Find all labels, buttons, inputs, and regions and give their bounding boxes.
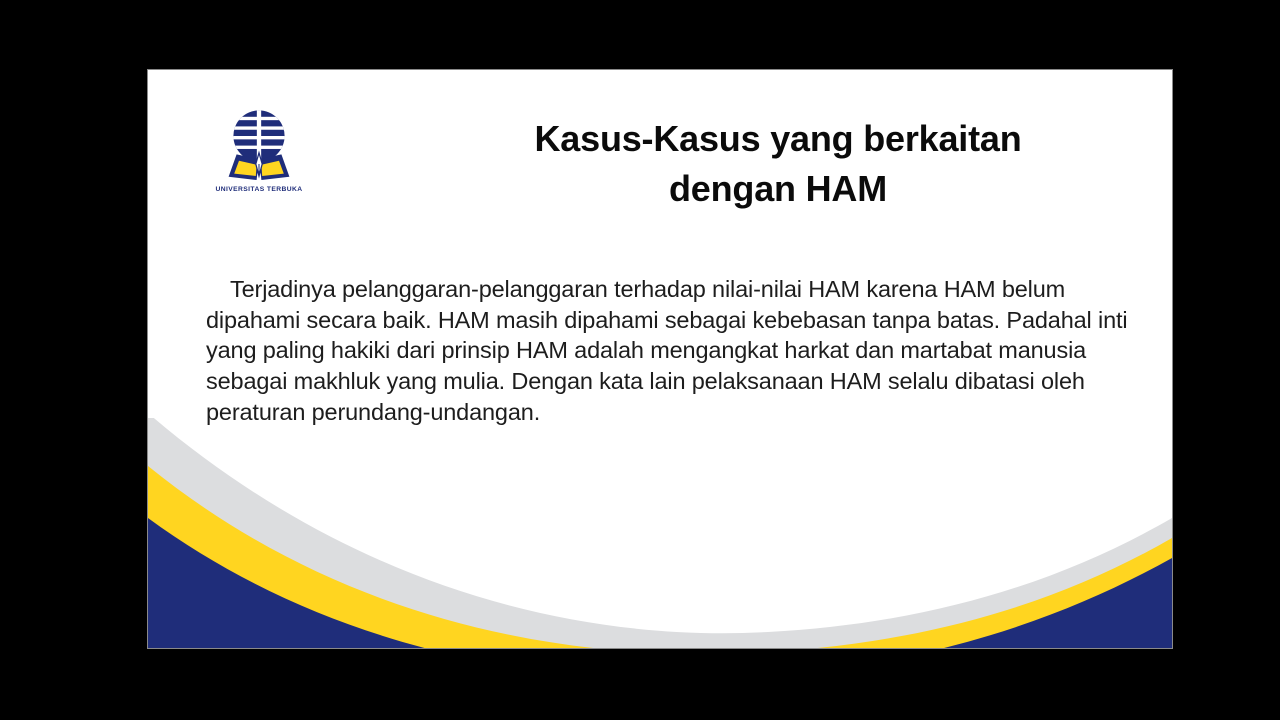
logo-caption: UNIVERSITAS TERBUKA: [216, 186, 303, 193]
slide-canvas: UNIVERSITAS TERBUKA Kasus-Kasus yang ber…: [148, 70, 1172, 648]
slide-body-text: Terjadinya pelanggaran-pelanggaran terha…: [206, 274, 1146, 427]
slide-title: Kasus-Kasus yang berkaitan dengan HAM: [428, 114, 1128, 213]
universitas-terbuka-logo: UNIVERSITAS TERBUKA: [211, 100, 307, 196]
logo-graphic: UNIVERSITAS TERBUKA: [211, 100, 307, 196]
presentation-viewport: UNIVERSITAS TERBUKA Kasus-Kasus yang ber…: [0, 0, 1280, 720]
wave-footer-decoration: [148, 418, 1172, 648]
slide-title-line-1: Kasus-Kasus yang berkaitan: [428, 114, 1128, 164]
slide-title-line-2: dengan HAM: [428, 164, 1128, 214]
